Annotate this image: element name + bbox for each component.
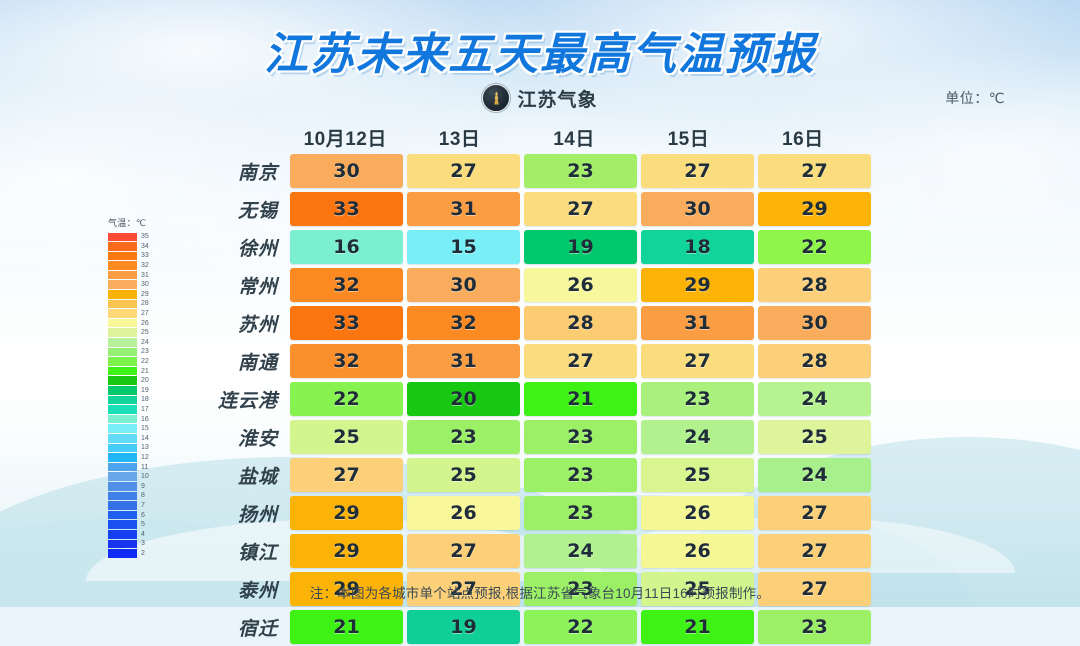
legend-value: 12 (141, 454, 149, 461)
legend-swatch (108, 520, 137, 529)
legend-stop: 6 (108, 510, 168, 520)
temperature-cell: 33 (290, 192, 403, 226)
table-row: 淮安2523232425 (190, 418, 862, 456)
table-row: 徐州1615191822 (190, 228, 862, 266)
city-label: 扬州 (190, 500, 290, 527)
legend-value: 16 (141, 416, 149, 423)
legend-value: 21 (141, 368, 149, 375)
legend-swatch (108, 444, 137, 453)
legend-swatch (108, 261, 137, 270)
legend-value: 5 (141, 521, 145, 528)
temperature-cell: 23 (758, 610, 871, 644)
legend-swatch (108, 271, 137, 280)
temperature-cell: 30 (407, 268, 520, 302)
legend-swatch (108, 348, 137, 357)
city-label: 常州 (190, 272, 290, 299)
legend-stop: 33 (108, 251, 168, 261)
temperature-cell: 23 (407, 420, 520, 454)
legend-swatch (108, 424, 137, 433)
legend-stop: 10 (108, 472, 168, 482)
legend-stop-list: 3534333231302928272625242322212019181716… (108, 232, 168, 558)
legend-value: 14 (141, 435, 149, 442)
legend-swatch (108, 319, 137, 328)
legend-value: 25 (141, 329, 149, 336)
table-row: 无锡3331273029 (190, 190, 862, 228)
legend-value: 24 (141, 339, 149, 346)
temperature-cell: 26 (641, 534, 754, 568)
legend-stop: 31 (108, 270, 168, 280)
temperature-cell: 19 (407, 610, 520, 644)
legend-swatch (108, 290, 137, 299)
city-label: 南通 (190, 348, 290, 375)
legend-value: 28 (141, 300, 149, 307)
legend-swatch (108, 233, 137, 242)
legend-swatch (108, 472, 137, 481)
legend-value: 2 (141, 550, 145, 557)
legend-swatch (108, 453, 137, 462)
legend-value: 22 (141, 358, 149, 365)
temperature-cell: 27 (758, 496, 871, 530)
temperature-cell: 25 (407, 458, 520, 492)
legend-stop: 13 (108, 443, 168, 453)
column-header-date: 14日 (519, 124, 629, 151)
legend-swatch (108, 492, 137, 501)
legend-swatch (108, 405, 137, 414)
temperature-cell: 31 (407, 344, 520, 378)
legend-swatch (108, 482, 137, 491)
temperature-cell: 27 (758, 154, 871, 188)
legend-swatch (108, 396, 137, 405)
table-row: 宿迁2119222123 (190, 608, 862, 646)
temperature-cell: 27 (407, 534, 520, 568)
city-label: 连云港 (190, 386, 290, 413)
legend-stop: 27 (108, 309, 168, 319)
legend-value: 35 (141, 233, 149, 240)
legend-value: 30 (141, 281, 149, 288)
legend-stop: 2 (108, 549, 168, 559)
legend-stop: 26 (108, 318, 168, 328)
legend-value: 7 (141, 502, 145, 509)
org-logo-row: 江苏气象 (0, 84, 1080, 112)
legend-value: 20 (141, 377, 149, 384)
temperature-cell: 28 (758, 268, 871, 302)
temperature-cell: 24 (758, 382, 871, 416)
legend-value: 11 (141, 464, 148, 471)
legend-stop: 23 (108, 347, 168, 357)
legend-stop: 35 (108, 232, 168, 242)
column-header-date: 10月12日 (290, 124, 400, 151)
legend-stop: 17 (108, 405, 168, 415)
legend-value: 23 (141, 348, 149, 355)
temperature-cell: 32 (290, 344, 403, 378)
temperature-cell: 23 (524, 496, 637, 530)
table-body: 南京3027232727无锡3331273029徐州1615191822常州32… (190, 152, 862, 646)
temperature-cell: 27 (290, 458, 403, 492)
legend-stop: 14 (108, 433, 168, 443)
temperature-cell: 19 (524, 230, 637, 264)
table-row: 常州3230262928 (190, 266, 862, 304)
temperature-cell: 26 (407, 496, 520, 530)
legend-swatch (108, 415, 137, 424)
temperature-cell: 24 (524, 534, 637, 568)
temperature-cell: 22 (524, 610, 637, 644)
legend-value: 18 (141, 396, 149, 403)
temperature-cell: 32 (290, 268, 403, 302)
legend-value: 32 (141, 262, 149, 269)
legend-swatch (108, 367, 137, 376)
legend-stop: 3 (108, 539, 168, 549)
temperature-cell: 25 (641, 458, 754, 492)
table-row: 连云港2220212324 (190, 380, 862, 418)
temperature-cell: 31 (641, 306, 754, 340)
legend-swatch (108, 280, 137, 289)
legend-swatch (108, 376, 137, 385)
legend-swatch (108, 434, 137, 443)
city-label: 无锡 (190, 196, 290, 223)
legend-value: 34 (141, 243, 149, 250)
legend-value: 6 (141, 512, 145, 519)
table-row: 南京3027232727 (190, 152, 862, 190)
legend-swatch (108, 501, 137, 510)
legend-value: 13 (141, 444, 149, 451)
legend-value: 4 (141, 531, 145, 538)
city-label: 盐城 (190, 462, 290, 489)
temperature-cell: 29 (290, 534, 403, 568)
table-row: 南通3231272728 (190, 342, 862, 380)
temperature-cell: 30 (758, 306, 871, 340)
temperature-cell: 29 (290, 496, 403, 530)
temperature-cell: 27 (641, 154, 754, 188)
temperature-cell: 23 (524, 420, 637, 454)
page-title: 江苏未来五天最高气温预报 (0, 18, 1080, 82)
legend-stop: 4 (108, 529, 168, 539)
temperature-cell: 30 (641, 192, 754, 226)
table-row: 扬州2926232627 (190, 494, 862, 532)
temperature-cell: 26 (524, 268, 637, 302)
city-label: 宿迁 (190, 614, 290, 641)
legend-swatch (108, 357, 137, 366)
legend-stop: 22 (108, 357, 168, 367)
temperature-cell: 26 (641, 496, 754, 530)
temperature-cell: 27 (524, 192, 637, 226)
column-header-date: 13日 (404, 124, 514, 151)
table-row: 镇江2927242627 (190, 532, 862, 570)
legend-swatch (108, 338, 137, 347)
legend-value: 19 (141, 387, 149, 394)
temperature-cell: 33 (290, 306, 403, 340)
legend-stop: 9 (108, 481, 168, 491)
legend-swatch (108, 328, 137, 337)
temperature-cell: 28 (524, 306, 637, 340)
legend-value: 27 (141, 310, 149, 317)
temperature-cell: 27 (524, 344, 637, 378)
temperature-cell: 25 (758, 420, 871, 454)
temperature-cell: 23 (524, 458, 637, 492)
legend-stop: 7 (108, 501, 168, 511)
org-name: 江苏气象 (517, 85, 597, 112)
temperature-cell: 25 (290, 420, 403, 454)
table-row: 苏州3332283130 (190, 304, 862, 342)
legend-swatch (108, 309, 137, 318)
legend-stop: 21 (108, 366, 168, 376)
legend-value: 8 (141, 492, 145, 499)
legend-swatch (108, 300, 137, 309)
legend-stop: 32 (108, 261, 168, 271)
legend-value: 26 (141, 320, 149, 327)
legend-swatch (108, 511, 137, 520)
legend-swatch (108, 530, 137, 539)
temperature-color-legend: 气温：℃ 35343332313029282726252423222120191… (108, 216, 168, 558)
table-header-row: 10月12日13日14日15日16日 (190, 122, 862, 152)
legend-swatch (108, 252, 137, 261)
legend-swatch (108, 549, 137, 558)
legend-stop: 30 (108, 280, 168, 290)
city-label: 苏州 (190, 310, 290, 337)
temperature-cell: 27 (758, 534, 871, 568)
legend-value: 33 (141, 252, 149, 259)
legend-value: 29 (141, 291, 149, 298)
legend-stop: 5 (108, 520, 168, 530)
legend-stop: 28 (108, 299, 168, 309)
legend-stop: 18 (108, 395, 168, 405)
legend-stop: 16 (108, 414, 168, 424)
legend-swatch (108, 242, 137, 251)
temperature-cell: 20 (407, 382, 520, 416)
temperature-cell: 32 (407, 306, 520, 340)
temperature-cell: 31 (407, 192, 520, 226)
legend-value: 15 (141, 425, 149, 432)
temperature-cell: 23 (641, 382, 754, 416)
legend-value: 31 (141, 272, 149, 279)
temperature-cell: 21 (524, 382, 637, 416)
temperature-cell: 15 (407, 230, 520, 264)
forecast-table: 10月12日13日14日15日16日 南京3027232727无锡3331273… (190, 122, 862, 646)
unit-label: 单位：℃ (945, 88, 1005, 108)
temperature-cell: 30 (290, 154, 403, 188)
temperature-cell: 22 (758, 230, 871, 264)
temperature-cell: 29 (641, 268, 754, 302)
city-label: 镇江 (190, 538, 290, 565)
legend-stop: 11 (108, 462, 168, 472)
temperature-cell: 27 (641, 344, 754, 378)
temperature-cell: 18 (641, 230, 754, 264)
legend-value: 17 (141, 406, 149, 413)
footer-note: 注：本图为各城市单个站点预报,根据江苏省气象台10月11日16时预报制作。 (0, 582, 1080, 602)
temperature-cell: 29 (758, 192, 871, 226)
column-header-date: 16日 (748, 124, 858, 151)
legend-stop: 12 (108, 453, 168, 463)
city-label: 南京 (190, 158, 290, 185)
legend-swatch (108, 463, 137, 472)
legend-stop: 25 (108, 328, 168, 338)
legend-stop: 34 (108, 242, 168, 252)
temperature-cell: 24 (641, 420, 754, 454)
city-label: 淮安 (190, 424, 290, 451)
legend-stop: 19 (108, 386, 168, 396)
legend-stop: 15 (108, 424, 168, 434)
legend-stop: 24 (108, 338, 168, 348)
table-row: 盐城2725232524 (190, 456, 862, 494)
temperature-cell: 22 (290, 382, 403, 416)
temperature-cell: 16 (290, 230, 403, 264)
seal-emblem-icon (482, 84, 510, 112)
legend-stop: 29 (108, 290, 168, 300)
legend-title: 气温：℃ (108, 216, 168, 229)
temperature-cell: 23 (524, 154, 637, 188)
temperature-cell: 21 (290, 610, 403, 644)
temperature-cell: 24 (758, 458, 871, 492)
city-label: 徐州 (190, 234, 290, 261)
legend-value: 3 (141, 540, 145, 547)
legend-stop: 8 (108, 491, 168, 501)
temperature-cell: 21 (641, 610, 754, 644)
column-header-date: 15日 (633, 124, 743, 151)
legend-swatch (108, 386, 137, 395)
legend-stop: 20 (108, 376, 168, 386)
legend-swatch (108, 540, 137, 549)
legend-value: 9 (141, 483, 145, 490)
legend-value: 10 (141, 473, 149, 480)
temperature-cell: 28 (758, 344, 871, 378)
temperature-cell: 27 (407, 154, 520, 188)
